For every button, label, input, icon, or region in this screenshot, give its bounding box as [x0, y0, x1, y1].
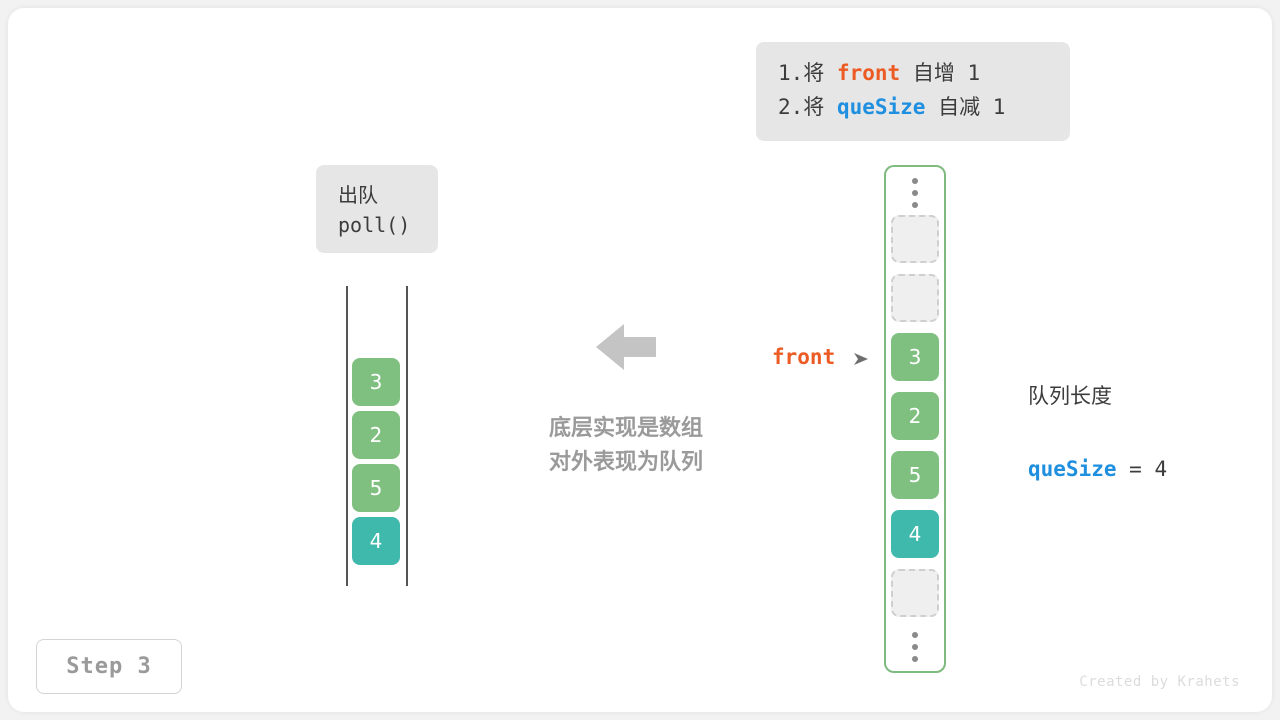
- array-cell-6: [891, 569, 939, 617]
- operation-note-line-2: 2.将 queSize 自减 1: [778, 90, 1048, 124]
- queue-rail-left: [346, 286, 348, 586]
- step-badge: Step 3: [36, 639, 182, 694]
- array-cell-5-value: 4: [909, 522, 922, 546]
- queue-size-note-title: 队列长度: [1028, 380, 1167, 413]
- arrow-left-icon: [596, 322, 656, 372]
- note-2-keyword: queSize: [837, 95, 926, 119]
- quesize-equals: =: [1117, 457, 1155, 481]
- quesize-value: 4: [1154, 457, 1167, 481]
- diagram-canvas: 1.将 front 自增 1 2.将 queSize 自减 1 出队 poll(…: [0, 0, 1280, 720]
- operation-note-line-1: 1.将 front 自增 1: [778, 56, 1048, 90]
- queue-cell-3-value: 4: [370, 529, 383, 553]
- array-cell-4-value: 5: [909, 463, 922, 487]
- note-2-suffix: 自减 1: [925, 95, 1005, 119]
- queue-cell-3: 4: [352, 517, 400, 565]
- queue-cell-1: 2: [352, 411, 400, 459]
- queue-cell-1-value: 2: [370, 423, 383, 447]
- queue-cell-0: 3: [352, 358, 400, 406]
- queue-rail-right: [406, 286, 408, 586]
- credit-text: Created by Krahets: [1079, 674, 1240, 690]
- queue-cell-0-value: 3: [370, 370, 383, 394]
- vertical-ellipsis-icon-bottom: [912, 632, 918, 662]
- array-cell-4: 5: [891, 451, 939, 499]
- operation-title: 出队 poll(): [316, 165, 438, 253]
- array-cell-5: 4: [891, 510, 939, 558]
- note-2-index: 2.: [778, 95, 803, 119]
- queue-cell-2: 5: [352, 464, 400, 512]
- note-1-prefix: 将: [803, 61, 837, 85]
- vertical-ellipsis-icon-top: [912, 178, 918, 208]
- array-cell-3: 2: [891, 392, 939, 440]
- array-cell-1: [891, 274, 939, 322]
- note-1-index: 1.: [778, 61, 803, 85]
- operation-title-cn: 出队: [338, 180, 438, 210]
- note-1-keyword: front: [837, 61, 900, 85]
- note-1-suffix: 自增 1: [900, 61, 980, 85]
- middle-caption-line-2: 对外表现为队列: [549, 450, 703, 475]
- note-2-prefix: 将: [803, 95, 837, 119]
- array-cell-3-value: 2: [909, 404, 922, 428]
- operation-title-code: poll(): [338, 210, 438, 240]
- triangle-right-icon: [854, 351, 870, 365]
- front-pointer-label: front: [772, 345, 835, 369]
- array-cell-2-value: 3: [909, 345, 922, 369]
- queue-size-note-expr: queSize = 4: [1028, 451, 1167, 487]
- queue-cell-2-value: 5: [370, 476, 383, 500]
- operation-note: 1.将 front 自增 1 2.将 queSize 自减 1: [756, 42, 1070, 141]
- array-cell-0: [891, 215, 939, 263]
- middle-caption: 底层实现是数组对外表现为队列: [528, 412, 724, 480]
- array-cell-2: 3: [891, 333, 939, 381]
- middle-caption-line-1: 底层实现是数组: [549, 416, 703, 441]
- quesize-variable: queSize: [1028, 457, 1117, 481]
- queue-size-note: 队列长度 queSize = 4: [1028, 342, 1167, 525]
